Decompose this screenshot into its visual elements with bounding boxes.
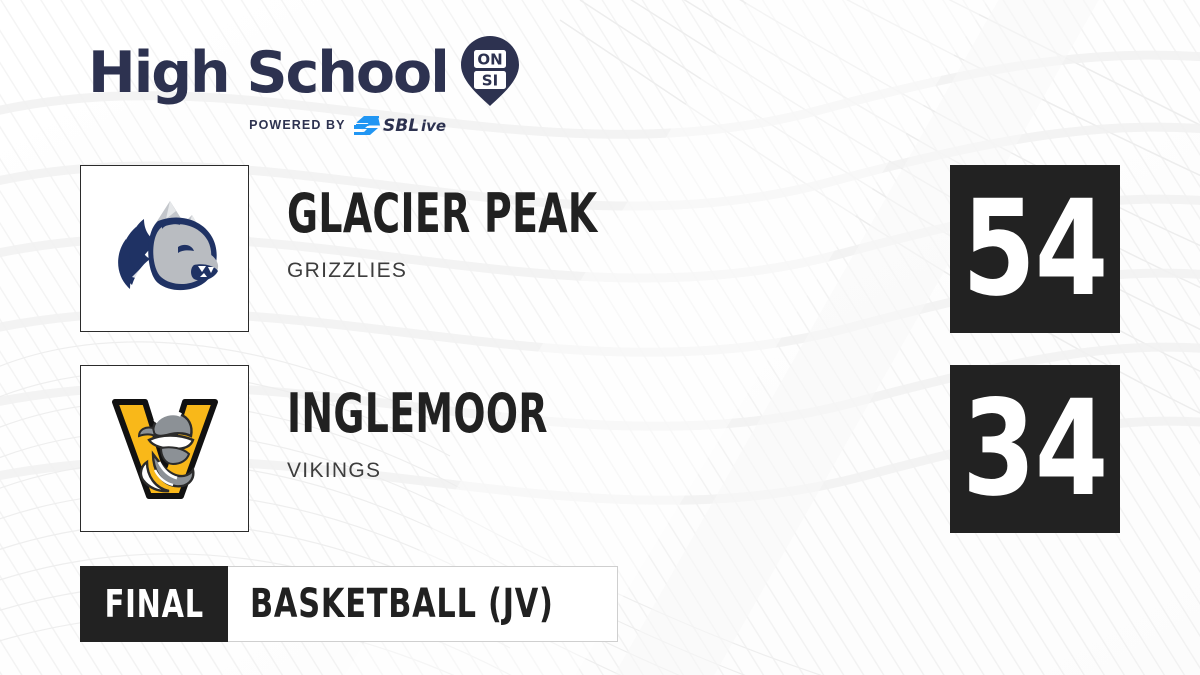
sblive-wordmark: SBL ive [383, 115, 479, 135]
sblive-bolt-icon [354, 116, 380, 135]
game-status-bar: FINAL BASKETBALL (JV) [80, 566, 618, 642]
team-name: GLACIER PEAK [287, 187, 598, 241]
sport-label-box: BASKETBALL (JV) [228, 566, 618, 642]
svg-text:SBL: SBL [383, 116, 419, 135]
sblive-logo: SBL ive [354, 115, 479, 135]
glacier-peak-grizzly-logo [106, 193, 224, 305]
status-state-label: FINAL [104, 585, 203, 623]
score-box: 54 [950, 165, 1120, 333]
onsi-pin-line-2: SI [482, 72, 498, 90]
brand-wordmark: High School [88, 45, 448, 102]
status-badge: FINAL [80, 566, 228, 642]
team-mascot: VIKINGS [287, 459, 660, 483]
onsi-pin-icon: ON SI [458, 34, 522, 108]
inglemoor-viking-logo [109, 392, 221, 506]
onsi-pin-line-1: ON [477, 51, 502, 69]
score-box: 34 [950, 365, 1120, 533]
team-info: GLACIER PEAK GRIZZLIES [287, 187, 731, 283]
svg-text:ive: ive [421, 117, 446, 135]
sport-label: BASKETBALL (JV) [250, 584, 554, 624]
team-info: INGLEMOOR VIKINGS [287, 387, 660, 483]
team-name: INGLEMOOR [287, 387, 548, 441]
team-logo-box-glacier-peak [80, 165, 249, 332]
team-logo-box-inglemoor [80, 365, 249, 532]
team-mascot: GRIZZLIES [287, 259, 731, 283]
brand-logo: High School ON SI POWERED BY [88, 38, 522, 135]
powered-by-label: POWERED BY [249, 118, 345, 132]
team-score: 54 [962, 183, 1107, 315]
team-score: 34 [962, 383, 1107, 515]
powered-by-block: POWERED BY SBL ive [206, 115, 522, 135]
